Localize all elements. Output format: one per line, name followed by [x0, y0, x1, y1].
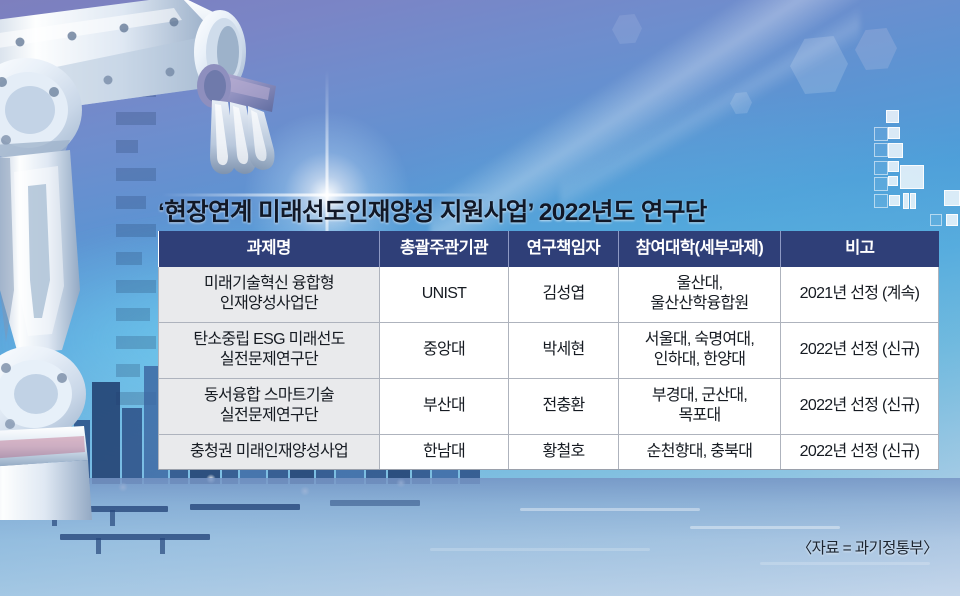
project-name-line: 탄소중립 ESG 미래선도 [162, 330, 376, 350]
project-name-line: 미래기술혁신 융합형 [162, 274, 376, 294]
participating-line: 울산대, [622, 274, 777, 294]
column-header-project-name: 과제명 [159, 231, 380, 267]
table-row: 탄소중립 ESG 미래선도 실전문제연구단 중앙대 박세현 서울대, 숙명여대,… [159, 322, 939, 378]
cell-remarks: 2022년 선정 (신규) [781, 378, 939, 434]
cell-lead-institution: UNIST [380, 267, 509, 322]
cell-project-name: 충청권 미래인재양성사업 [159, 434, 380, 469]
project-name-line: 동서융합 스마트기술 [162, 386, 376, 406]
cell-participating-universities: 부경대, 군산대, 목포대 [619, 378, 781, 434]
cell-participating-universities: 울산대, 울산산학융합원 [619, 267, 781, 322]
column-header-principal-investigator: 연구책임자 [509, 231, 619, 267]
cell-remarks: 2022년 선정 (신규) [781, 434, 939, 469]
column-header-remarks: 비고 [781, 231, 939, 267]
cell-project-name: 미래기술혁신 융합형 인재양성사업단 [159, 267, 380, 322]
cell-principal-investigator: 황철호 [509, 434, 619, 469]
cell-principal-investigator: 전충환 [509, 378, 619, 434]
participating-line: 서울대, 숙명여대, [622, 330, 777, 350]
project-name-line: 실전문제연구단 [162, 406, 376, 426]
cell-lead-institution: 중앙대 [380, 322, 509, 378]
cell-remarks: 2021년 선정 (계속) [781, 267, 939, 322]
cell-principal-investigator: 김성엽 [509, 267, 619, 322]
cell-participating-universities: 서울대, 숙명여대, 인하대, 한양대 [619, 322, 781, 378]
infographic-canvas: ‘현장연계 미래선도인재양성 지원사업’ 2022년도 연구단 과제명 총괄주관… [0, 0, 960, 596]
table-header-row: 과제명 총괄주관기관 연구책임자 참여대학(세부과제) 비고 [159, 231, 939, 267]
cell-lead-institution: 부산대 [380, 378, 509, 434]
table-row: 미래기술혁신 융합형 인재양성사업단 UNIST 김성엽 울산대, 울산산학융합… [159, 267, 939, 322]
cell-project-name: 동서융합 스마트기술 실전문제연구단 [159, 378, 380, 434]
project-name-line: 인재양성사업단 [162, 294, 376, 314]
research-programs-table-wrapper: 과제명 총괄주관기관 연구책임자 참여대학(세부과제) 비고 미래기술혁신 융합… [158, 231, 938, 470]
cell-lead-institution: 한남대 [380, 434, 509, 469]
participating-line: 목포대 [622, 406, 777, 426]
table-row: 충청권 미래인재양성사업 한남대 황철호 순천향대, 충북대 2022년 선정 … [159, 434, 939, 469]
cell-project-name: 탄소중립 ESG 미래선도 실전문제연구단 [159, 322, 380, 378]
table-row: 동서융합 스마트기술 실전문제연구단 부산대 전충환 부경대, 군산대, 목포대… [159, 378, 939, 434]
column-header-participating-universities: 참여대학(세부과제) [619, 231, 781, 267]
participating-line: 부경대, 군산대, [622, 386, 777, 406]
participating-line: 인하대, 한양대 [622, 350, 777, 370]
research-programs-table: 과제명 총괄주관기관 연구책임자 참여대학(세부과제) 비고 미래기술혁신 융합… [158, 231, 939, 470]
column-header-lead-institution: 총괄주관기관 [380, 231, 509, 267]
cell-remarks: 2022년 선정 (신규) [781, 322, 939, 378]
participating-line: 울산산학융합원 [622, 294, 777, 314]
project-name-line: 실전문제연구단 [162, 350, 376, 370]
cell-principal-investigator: 박세현 [509, 322, 619, 378]
source-attribution: 〈자료 = 과기정통부〉 [797, 536, 938, 558]
page-title: ‘현장연계 미래선도인재양성 지원사업’ 2022년도 연구단 [158, 193, 707, 228]
cell-participating-universities: 순천향대, 충북대 [619, 434, 781, 469]
